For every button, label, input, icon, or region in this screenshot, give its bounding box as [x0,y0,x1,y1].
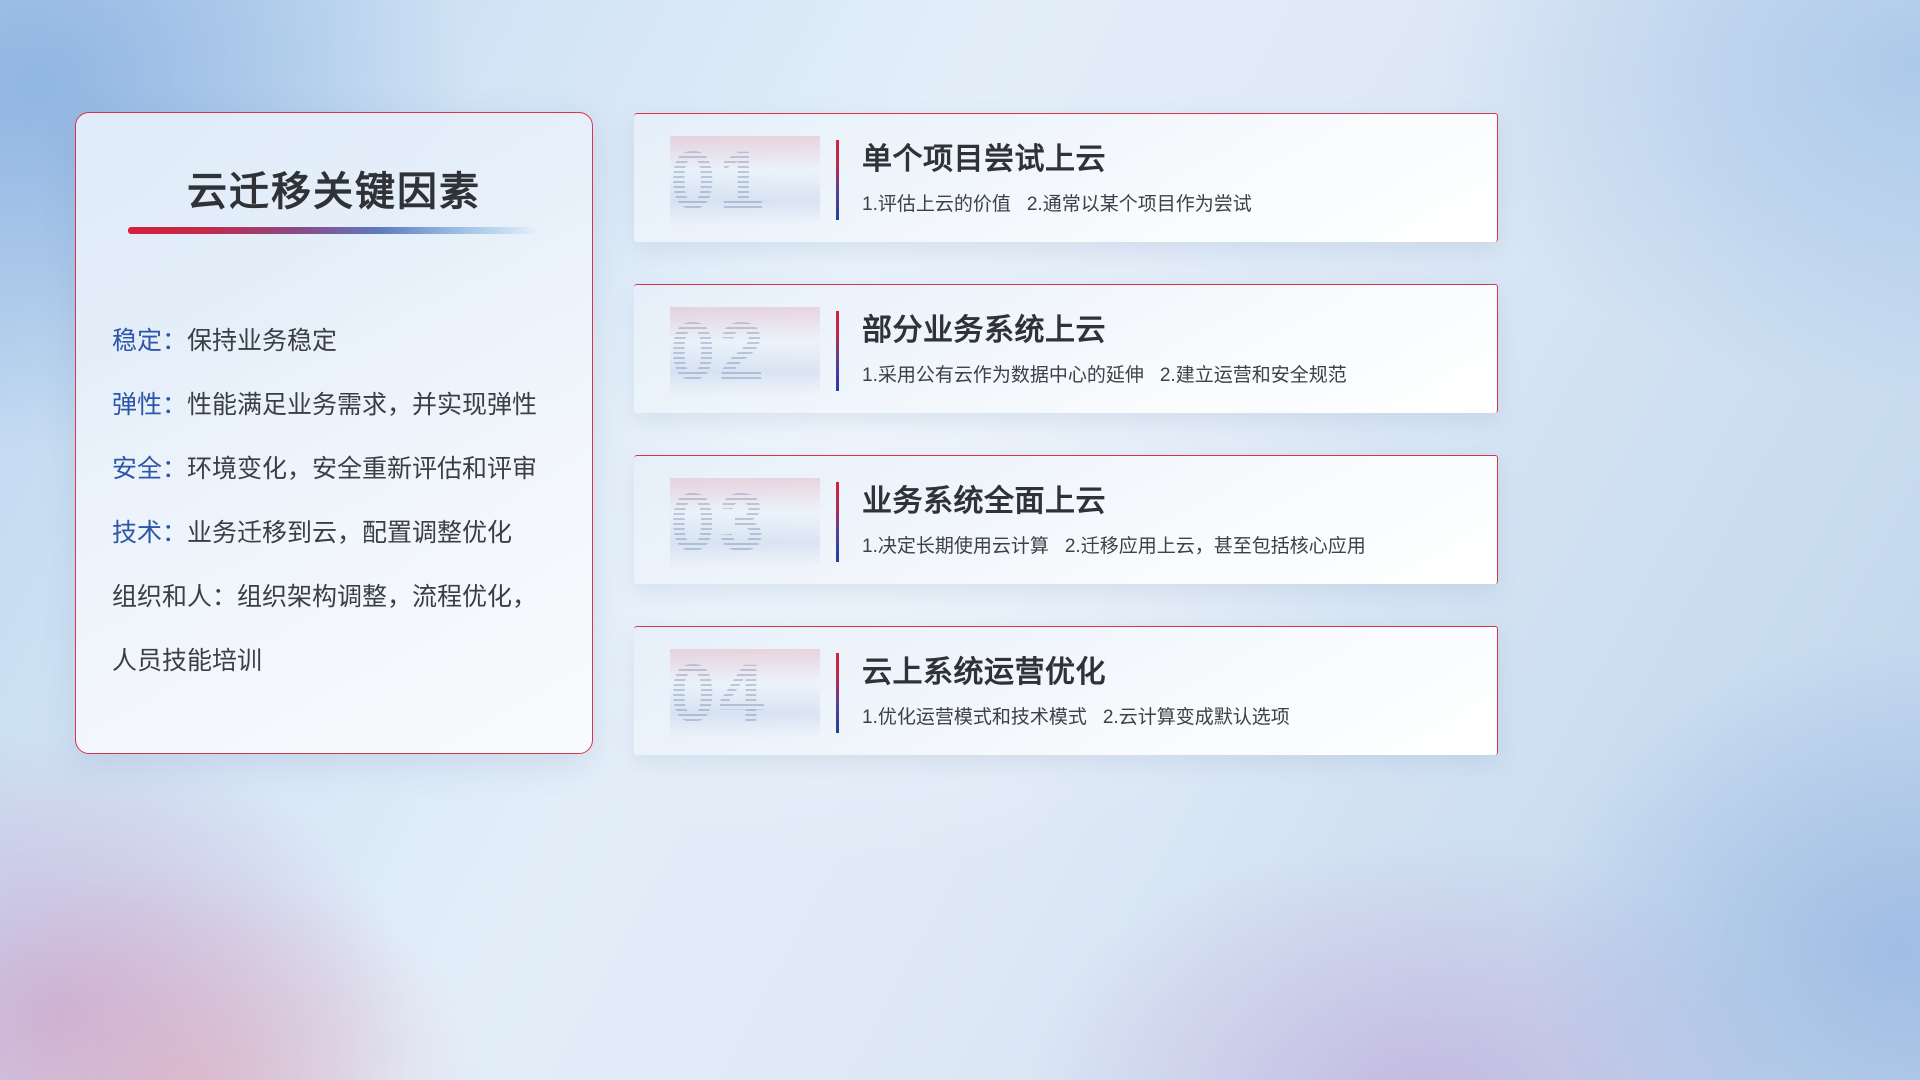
stage-card-01[interactable]: 01 单个项目尝试上云 1.评估上云的价值2.通常以某个项目作为尝试 [634,113,1498,242]
list-item: 人员技能培训 [112,629,570,693]
card-desc-part-2: 2.云计算变成默认选项 [1103,707,1290,728]
card-desc-part-2: 2.建立运营和安全规范 [1160,365,1347,386]
card-desc-part-1: 1.评估上云的价值 [862,194,1011,215]
list-item-text: 性能满足业务需求，并实现弹性 [187,391,537,419]
list-item-key: 稳定： [112,327,187,355]
stage-card-02[interactable]: 02 部分业务系统上云 1.采用公有云作为数据中心的延伸2.建立运营和安全规范 [634,284,1498,413]
list-item: 弹性：性能满足业务需求，并实现弹性 [112,373,570,437]
card-desc-part-1: 1.优化运营模式和技术模式 [862,707,1087,728]
stage-number-02: 02 [670,307,820,397]
card-body: 业务系统全面上云 1.决定长期使用云计算2.迁移应用上云，甚至包括核心应用 [862,480,1477,560]
list-item: 组织和人：组织架构调整，流程优化， [112,565,570,629]
key-factors-list: 稳定：保持业务稳定 弹性：性能满足业务需求，并实现弹性 安全：环境变化，安全重新… [112,309,570,693]
migration-stage-cards: 01 单个项目尝试上云 1.评估上云的价值2.通常以某个项目作为尝试 02 部分… [634,113,1498,755]
list-item: 稳定：保持业务稳定 [112,309,570,373]
list-item-text: 保持业务稳定 [187,327,337,355]
list-item-text: 业务迁移到云，配置调整优化 [187,519,512,547]
card-title: 业务系统全面上云 [862,480,1477,524]
card-desc-part-1: 1.决定长期使用云计算 [862,536,1049,557]
card-body: 云上系统运营优化 1.优化运营模式和技术模式2.云计算变成默认选项 [862,651,1477,731]
card-description: 1.决定长期使用云计算2.迁移应用上云，甚至包括核心应用 [862,534,1477,560]
card-description: 1.评估上云的价值2.通常以某个项目作为尝试 [862,192,1477,218]
card-desc-part-1: 1.采用公有云作为数据中心的延伸 [862,365,1144,386]
stage-number-04: 04 [670,649,820,739]
card-divider [836,482,839,562]
list-item-key: 弹性： [112,391,187,419]
list-item-text: 人员技能培训 [112,647,262,675]
card-title: 部分业务系统上云 [862,309,1477,353]
title-underline-gradient [128,227,536,234]
stage-card-04[interactable]: 04 云上系统运营优化 1.优化运营模式和技术模式2.云计算变成默认选项 [634,626,1498,755]
card-body: 单个项目尝试上云 1.评估上云的价值2.通常以某个项目作为尝试 [862,138,1477,218]
stage-card-03[interactable]: 03 业务系统全面上云 1.决定长期使用云计算2.迁移应用上云，甚至包括核心应用 [634,455,1498,584]
list-item-text: 组织和人：组织架构调整，流程优化， [112,583,537,611]
card-description: 1.优化运营模式和技术模式2.云计算变成默认选项 [862,705,1477,731]
card-divider [836,311,839,391]
card-title: 云上系统运营优化 [862,651,1477,695]
stage-number-01: 01 [670,136,820,226]
list-item-text: 环境变化，安全重新评估和评审 [187,455,537,483]
list-item-key: 技术： [112,519,187,547]
card-title: 单个项目尝试上云 [862,138,1477,182]
card-divider [836,653,839,733]
page-title: 云迁移关键因素 [76,159,592,217]
key-factors-panel: 云迁移关键因素 稳定：保持业务稳定 弹性：性能满足业务需求，并实现弹性 安全：环… [75,112,593,754]
card-desc-part-2: 2.通常以某个项目作为尝试 [1027,194,1252,215]
card-divider [836,140,839,220]
list-item: 技术：业务迁移到云，配置调整优化 [112,501,570,565]
list-item-key: 安全： [112,455,187,483]
card-description: 1.采用公有云作为数据中心的延伸2.建立运营和安全规范 [862,363,1477,389]
card-desc-part-2: 2.迁移应用上云，甚至包括核心应用 [1065,536,1366,557]
card-body: 部分业务系统上云 1.采用公有云作为数据中心的延伸2.建立运营和安全规范 [862,309,1477,389]
list-item: 安全：环境变化，安全重新评估和评审 [112,437,570,501]
stage-number-03: 03 [670,478,820,568]
